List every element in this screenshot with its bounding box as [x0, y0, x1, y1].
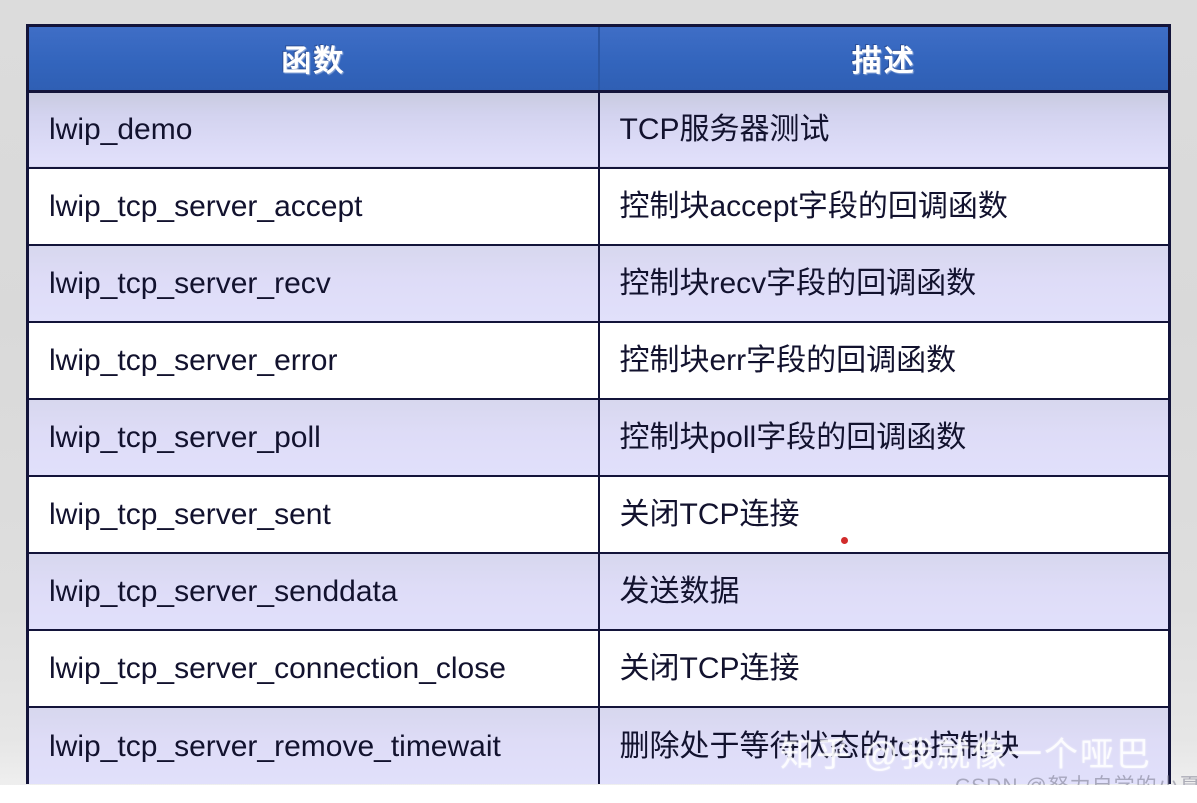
- description-text: 关闭TCP连接: [620, 652, 1169, 685]
- cell-function-name: lwip_demo: [29, 91, 599, 168]
- table-row: lwip_tcp_server_error 控制块err字段的回调函数: [29, 322, 1168, 399]
- cell-function-name: lwip_tcp_server_sent: [29, 476, 599, 553]
- table-row: lwip_tcp_server_senddata 发送数据: [29, 553, 1168, 630]
- page-canvas: 函数 描述 lwip_demo TCP服务器测试 lwip_tcp_server…: [0, 0, 1197, 803]
- description-text: 关闭TCP连接: [620, 498, 1169, 531]
- description-text: 控制块accept字段的回调函数: [620, 190, 1169, 223]
- description-text: TCP服务器测试: [620, 113, 1169, 146]
- description-text: 删除处于等待状态的tcp控制块: [620, 730, 1169, 763]
- table-row: lwip_tcp_server_remove_timewait 删除处于等待状态…: [29, 707, 1168, 784]
- table-row: lwip_tcp_server_poll 控制块poll字段的回调函数: [29, 399, 1168, 476]
- function-name-text: lwip_tcp_server_sent: [49, 498, 598, 531]
- table-row: lwip_tcp_server_sent 关闭TCP连接: [29, 476, 1168, 553]
- table-row: lwip_tcp_server_recv 控制块recv字段的回调函数: [29, 245, 1168, 322]
- cell-description: 关闭TCP连接: [599, 476, 1169, 553]
- table-row: lwip_tcp_server_accept 控制块accept字段的回调函数: [29, 168, 1168, 245]
- cell-description: 控制块poll字段的回调函数: [599, 399, 1169, 476]
- cell-function-name: lwip_tcp_server_senddata: [29, 553, 599, 630]
- function-name-text: lwip_tcp_server_poll: [49, 421, 598, 454]
- function-name-text: lwip_tcp_server_error: [49, 344, 598, 377]
- table-header: 函数 描述: [29, 27, 1168, 91]
- cell-function-name: lwip_tcp_server_accept: [29, 168, 599, 245]
- cell-description: 控制块recv字段的回调函数: [599, 245, 1169, 322]
- column-header-description: 描述: [599, 27, 1169, 91]
- function-name-text: lwip_tcp_server_recv: [49, 267, 598, 300]
- function-name-text: lwip_tcp_server_senddata: [49, 575, 598, 608]
- description-text: 控制块recv字段的回调函数: [620, 267, 1169, 300]
- cell-function-name: lwip_tcp_server_recv: [29, 245, 599, 322]
- cell-function-name: lwip_tcp_server_poll: [29, 399, 599, 476]
- table-body: lwip_demo TCP服务器测试 lwip_tcp_server_accep…: [29, 91, 1168, 784]
- cell-function-name: lwip_tcp_server_remove_timewait: [29, 707, 599, 784]
- cell-description: 删除处于等待状态的tcp控制块: [599, 707, 1169, 784]
- cell-description: 关闭TCP连接: [599, 630, 1169, 707]
- bottom-white-strip: [0, 785, 1197, 803]
- table-header-row: 函数 描述: [29, 27, 1168, 91]
- function-name-text: lwip_demo: [49, 113, 598, 146]
- cell-description: 发送数据: [599, 553, 1169, 630]
- function-name-text: lwip_tcp_server_connection_close: [49, 652, 598, 685]
- function-table: 函数 描述 lwip_demo TCP服务器测试 lwip_tcp_server…: [29, 27, 1168, 784]
- cell-function-name: lwip_tcp_server_connection_close: [29, 630, 599, 707]
- description-text: 控制块err字段的回调函数: [620, 344, 1169, 377]
- table-row: lwip_demo TCP服务器测试: [29, 91, 1168, 168]
- column-header-function: 函数: [29, 27, 599, 91]
- function-name-text: lwip_tcp_server_remove_timewait: [49, 730, 598, 763]
- cell-description: 控制块err字段的回调函数: [599, 322, 1169, 399]
- cell-description: 控制块accept字段的回调函数: [599, 168, 1169, 245]
- description-text: 控制块poll字段的回调函数: [620, 421, 1169, 454]
- function-name-text: lwip_tcp_server_accept: [49, 190, 598, 223]
- table-row: lwip_tcp_server_connection_close 关闭TCP连接: [29, 630, 1168, 707]
- cell-description: TCP服务器测试: [599, 91, 1169, 168]
- cell-function-name: lwip_tcp_server_error: [29, 322, 599, 399]
- function-table-container: 函数 描述 lwip_demo TCP服务器测试 lwip_tcp_server…: [26, 24, 1171, 784]
- description-text: 发送数据: [620, 575, 1169, 608]
